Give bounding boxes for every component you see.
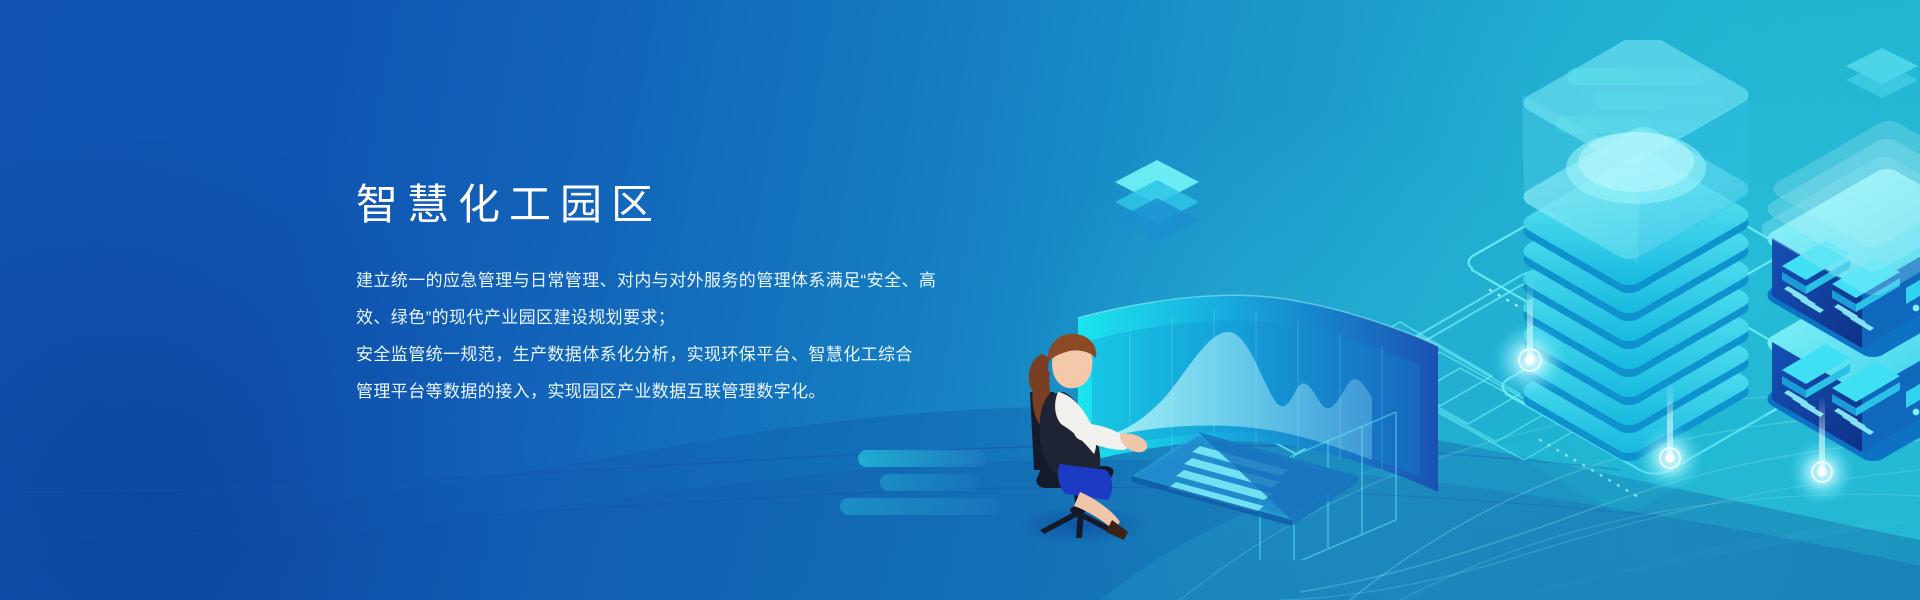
hero-banner: 智慧化工园区 建立统一的应急管理与日常管理、对内与对外服务的管理体系满足“安全、…	[0, 0, 1920, 600]
description-line-2: 效、绿色”的现代产业园区建设规划要求；	[356, 299, 1076, 336]
page-title: 智慧化工园区	[356, 182, 1076, 228]
isometric-illustration	[1020, 40, 1920, 560]
cloud-decoration-center	[840, 450, 1000, 522]
description-line-3: 安全监管统一规范，生产数据体系化分析，实现环保平台、智慧化工综合	[356, 336, 1076, 373]
data-server-tower	[1483, 40, 1776, 513]
description-line-4: 管理平台等数据的接入，实现园区产业数据互联管理数字化。	[356, 373, 1076, 410]
chevron-marker-icon	[1846, 48, 1918, 98]
hero-copy: 智慧化工园区 建立统一的应急管理与日常管理、对内与对外服务的管理体系满足“安全、…	[356, 182, 1076, 410]
description-line-1: 建立统一的应急管理与日常管理、对内与对外服务的管理体系满足“安全、高	[356, 262, 1076, 299]
floating-cube-icon	[1115, 160, 1199, 242]
server-rack-stack	[1762, 46, 1920, 461]
hero-description: 建立统一的应急管理与日常管理、对内与对外服务的管理体系满足“安全、高 效、绿色”…	[356, 262, 1076, 410]
